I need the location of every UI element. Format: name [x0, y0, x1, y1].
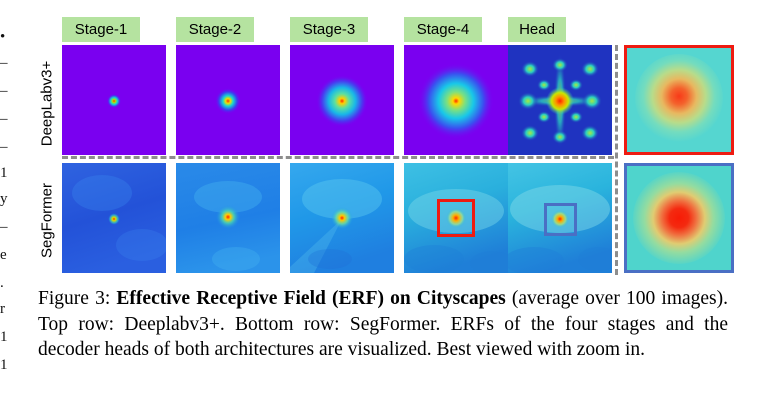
edge-fragment: 1 [0, 358, 8, 373]
column-header-stage-2: Stage-2 [176, 17, 254, 42]
row-label-deeplabv3plus: DeepLabv3+ [39, 54, 56, 154]
zoom-column-separator-dashed [615, 45, 618, 275]
column-header-stage-4: Stage-4 [404, 17, 482, 42]
caption-prefix: Figure 3: [38, 288, 116, 309]
erf-panel-deeplab-stage-2 [176, 45, 280, 155]
edge-fragment: r [0, 302, 5, 317]
caption-bold-title: Effective Receptive Field (ERF) on Citys… [116, 288, 505, 309]
figure-3-panel-grid: Stage-1 Stage-2 Stage-3 Stage-4 Head Dee… [0, 0, 762, 280]
edge-fragment: 1 [0, 330, 8, 345]
erf-panel-deeplab-stage-4 [404, 45, 508, 155]
column-header-head: Head [508, 17, 566, 42]
zoom-panel-segformer-head [624, 163, 734, 273]
column-header-stage-1: Stage-1 [62, 17, 140, 42]
selection-box-red-stage-4 [437, 199, 475, 237]
erf-panel-segformer-stage-2 [176, 163, 280, 273]
erf-panel-segformer-head [508, 163, 612, 273]
erf-panel-segformer-stage-1 [62, 163, 166, 273]
selection-box-blue-head [544, 203, 577, 236]
row-label-segformer: SegFormer [39, 176, 56, 266]
zoom-panel-deeplab-head [624, 45, 734, 155]
erf-panel-segformer-stage-3 [290, 163, 394, 273]
row-separator-dashed [62, 156, 614, 159]
erf-panel-deeplab-head [508, 45, 612, 155]
erf-panel-deeplab-stage-1 [62, 45, 166, 155]
erf-panel-segformer-stage-4 [404, 163, 508, 273]
figure-caption: Figure 3: Effective Receptive Field (ERF… [38, 286, 728, 363]
column-header-stage-3: Stage-3 [290, 17, 368, 42]
erf-panel-deeplab-stage-3 [290, 45, 394, 155]
